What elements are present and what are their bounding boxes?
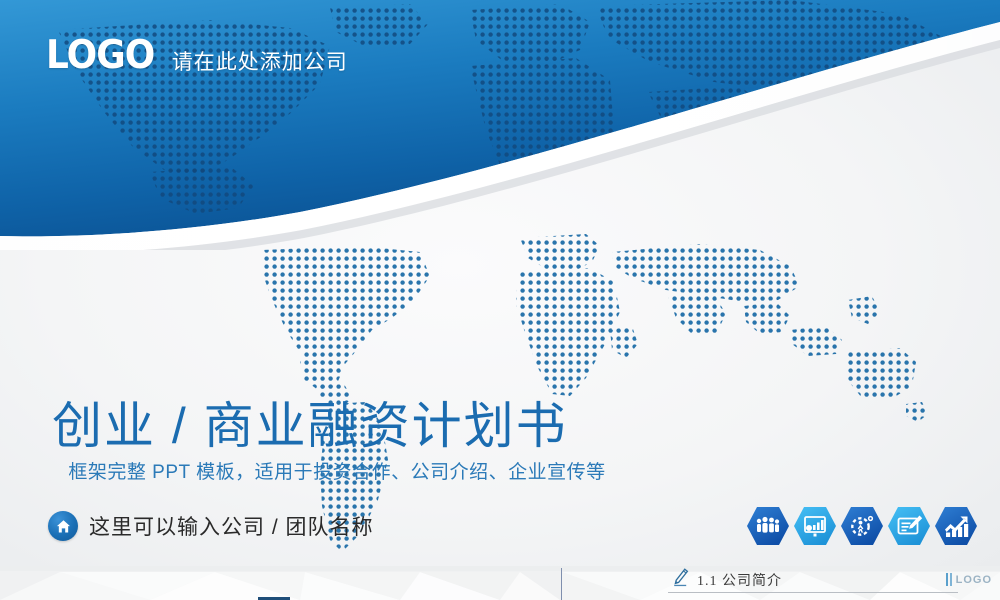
company-name-line: 这里可以输入公司 / 团队名称 (48, 511, 374, 541)
title-block: 创业 / 商业融资计划书 框架完整 PPT 模板，适用于投资合作、公司介绍、企业… (52, 398, 692, 486)
page-title: 创业 / 商业融资计划书 (52, 398, 692, 454)
people-group-icon[interactable] (746, 504, 790, 548)
footer-vertical-divider (561, 568, 562, 600)
page-subtitle: 框架完整 PPT 模板，适用于投资合作、公司介绍、企业宣传等 (52, 460, 622, 486)
footer-logo-mark-icon (946, 573, 952, 586)
pencil-icon (672, 568, 689, 592)
low-poly-pattern (0, 566, 1000, 600)
footer-section-caption: 1.1 公司简介 (672, 568, 782, 592)
footer-caption-underline (668, 592, 958, 593)
person-gear-icon[interactable] (840, 504, 884, 548)
logo-wordmark: LOGO (46, 36, 154, 75)
slide-header-banner: LOGO 请在此处添加公司 (0, 0, 1000, 250)
presentation-slide: LOGO 请在此处添加公司 创业 / 商业融资计划书 框架完整 PPT 模板，适… (0, 0, 1000, 600)
growth-arrow-icon[interactable] (934, 504, 978, 548)
hexagon-icon-row (746, 504, 978, 548)
footer-logo-text: LOGO (956, 574, 992, 586)
footer-caption-text: 1.1 公司简介 (697, 570, 782, 590)
home-icon (48, 511, 78, 541)
header-logo-group: LOGO 请在此处添加公司 (46, 36, 348, 75)
edit-document-icon[interactable] (887, 504, 931, 548)
logo-subtitle: 请在此处添加公司 (172, 52, 348, 75)
footer-logo: LOGO (946, 573, 992, 586)
footer-strip (0, 566, 1000, 600)
presentation-chart-icon[interactable] (793, 504, 837, 548)
company-name-text: 这里可以输入公司 / 团队名称 (89, 511, 374, 541)
